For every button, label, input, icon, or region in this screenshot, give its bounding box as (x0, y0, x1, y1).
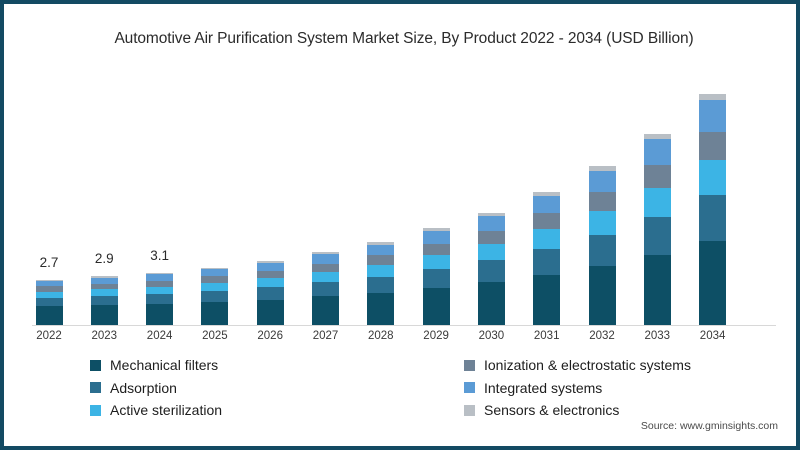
bar-segment-integrated-systems (644, 139, 671, 165)
bar-segment-mechanical-filters (91, 305, 118, 326)
legend-label-sensors-electronics: Sensors & electronics (484, 402, 619, 418)
legend-swatch-icon-active-sterilization (90, 405, 101, 416)
legend-item-integrated-systems[interactable]: Integrated systems (464, 377, 691, 400)
x-axis-label-2027: 2027 (296, 330, 356, 342)
legend-swatch-icon-adsorption (90, 382, 101, 393)
bar-segment-mechanical-filters (423, 288, 450, 326)
bar-2028[interactable] (367, 242, 394, 326)
legend-item-ionization-electrostatic-systems[interactable]: Ionization & electrostatic systems (464, 354, 691, 377)
x-axis-label-2026: 2026 (240, 330, 300, 342)
legend-label-integrated-systems: Integrated systems (484, 380, 602, 396)
bar-segment-ionization-electrostatic-systems (423, 244, 450, 255)
bar-segment-mechanical-filters (589, 266, 616, 326)
bar-segment-adsorption (257, 287, 284, 299)
legend-swatch-icon-sensors-electronics (464, 405, 475, 416)
bar-segment-mechanical-filters (312, 296, 339, 326)
bar-segment-adsorption (146, 294, 173, 304)
legend-label-adsorption: Adsorption (110, 380, 177, 396)
bar-value-label-2023: 2.9 (74, 251, 134, 266)
bar-segment-ionization-electrostatic-systems (312, 264, 339, 272)
bar-segment-integrated-systems (201, 269, 228, 276)
x-axis-label-2032: 2032 (572, 330, 632, 342)
plot-area (32, 74, 776, 326)
bar-value-label-2024: 3.1 (130, 248, 190, 263)
bar-segment-ionization-electrostatic-systems (644, 165, 671, 188)
bar-segment-mechanical-filters (36, 306, 63, 326)
bar-segment-active-sterilization (91, 289, 118, 296)
x-axis-label-2034: 2034 (683, 330, 743, 342)
bar-segment-adsorption (533, 249, 560, 275)
bar-segment-mechanical-filters (699, 241, 726, 326)
bar-segment-adsorption (312, 282, 339, 296)
legend-item-sensors-electronics[interactable]: Sensors & electronics (464, 399, 691, 422)
bar-segment-integrated-systems (589, 171, 616, 192)
bar-segment-mechanical-filters (146, 304, 173, 326)
x-axis-label-2024: 2024 (130, 330, 190, 342)
bar-segment-active-sterilization (257, 278, 284, 287)
bar-segment-ionization-electrostatic-systems (699, 132, 726, 160)
bar-2030[interactable] (478, 213, 505, 326)
bar-segment-integrated-systems (257, 263, 284, 271)
bar-2024[interactable] (146, 273, 173, 326)
chart-frame: Automotive Air Purification System Marke… (0, 0, 800, 450)
bar-segment-integrated-systems (312, 254, 339, 263)
bar-2033[interactable] (644, 134, 671, 326)
bar-segment-mechanical-filters (201, 302, 228, 326)
bar-segment-adsorption (423, 269, 450, 288)
source-attribution: Source: www.gminsights.com (641, 420, 778, 432)
legend-column-left: Mechanical filtersAdsorptionActive steri… (90, 354, 222, 422)
bar-segment-mechanical-filters (644, 255, 671, 326)
bar-segment-active-sterilization (367, 265, 394, 277)
x-axis-label-2033: 2033 (627, 330, 687, 342)
bar-segment-adsorption (589, 235, 616, 267)
bar-2023[interactable] (91, 276, 118, 326)
chart-legend: Mechanical filtersAdsorptionActive steri… (4, 354, 800, 422)
bar-segment-active-sterilization (146, 287, 173, 294)
bar-segment-integrated-systems (367, 245, 394, 256)
legend-item-adsorption[interactable]: Adsorption (90, 377, 222, 400)
legend-label-ionization-electrostatic-systems: Ionization & electrostatic systems (484, 357, 691, 373)
legend-swatch-icon-mechanical-filters (90, 360, 101, 371)
x-axis-label-2028: 2028 (351, 330, 411, 342)
bar-segment-active-sterilization (201, 283, 228, 291)
bar-segment-active-sterilization (312, 272, 339, 282)
bar-segment-ionization-electrostatic-systems (257, 271, 284, 278)
bar-segment-adsorption (201, 291, 228, 302)
legend-swatch-icon-integrated-systems (464, 382, 475, 393)
bar-segment-ionization-electrostatic-systems (533, 213, 560, 229)
x-axis-line (32, 325, 776, 326)
bar-segment-adsorption (91, 296, 118, 305)
bar-segment-active-sterilization (423, 255, 450, 269)
bar-2031[interactable] (533, 192, 560, 326)
bar-segment-ionization-electrostatic-systems (478, 231, 505, 244)
bar-2026[interactable] (257, 261, 284, 326)
x-axis-label-2025: 2025 (185, 330, 245, 342)
bar-segment-mechanical-filters (367, 293, 394, 326)
chart-title: Automotive Air Purification System Marke… (4, 30, 800, 48)
bar-2034[interactable] (699, 94, 726, 326)
bar-segment-active-sterilization (589, 211, 616, 235)
legend-swatch-icon-ionization-electrostatic-systems (464, 360, 475, 371)
bar-segment-adsorption (699, 195, 726, 242)
x-axis-label-2022: 2022 (19, 330, 79, 342)
bar-segment-adsorption (36, 298, 63, 307)
bar-2029[interactable] (423, 228, 450, 326)
bar-segment-mechanical-filters (533, 275, 560, 326)
bar-2032[interactable] (589, 166, 616, 326)
bar-segment-integrated-systems (533, 196, 560, 214)
bar-segment-mechanical-filters (257, 300, 284, 326)
bar-2022[interactable] (36, 280, 63, 326)
bar-segment-active-sterilization (533, 229, 560, 249)
bar-segment-ionization-electrostatic-systems (367, 255, 394, 265)
bar-segment-ionization-electrostatic-systems (589, 192, 616, 211)
bar-segment-active-sterilization (644, 188, 671, 217)
bar-segment-adsorption (367, 277, 394, 293)
x-axis-label-2023: 2023 (74, 330, 134, 342)
bar-segment-integrated-systems (699, 100, 726, 132)
bar-segment-integrated-systems (423, 231, 450, 244)
bar-value-label-2022: 2.7 (19, 255, 79, 270)
bar-segment-integrated-systems (478, 216, 505, 231)
legend-label-mechanical-filters: Mechanical filters (110, 357, 218, 373)
legend-item-active-sterilization[interactable]: Active sterilization (90, 399, 222, 422)
bar-segment-adsorption (644, 217, 671, 255)
bar-segment-active-sterilization (478, 244, 505, 260)
x-axis-label-2030: 2030 (461, 330, 521, 342)
legend-column-right: Ionization & electrostatic systemsIntegr… (464, 354, 691, 422)
bar-2027[interactable] (312, 252, 339, 326)
bar-2025[interactable] (201, 268, 228, 326)
bar-segment-mechanical-filters (478, 282, 505, 326)
bar-segment-active-sterilization (699, 160, 726, 195)
legend-item-mechanical-filters[interactable]: Mechanical filters (90, 354, 222, 377)
x-axis-label-2031: 2031 (517, 330, 577, 342)
x-axis-label-2029: 2029 (406, 330, 466, 342)
bar-segment-adsorption (478, 260, 505, 282)
legend-label-active-sterilization: Active sterilization (110, 402, 222, 418)
